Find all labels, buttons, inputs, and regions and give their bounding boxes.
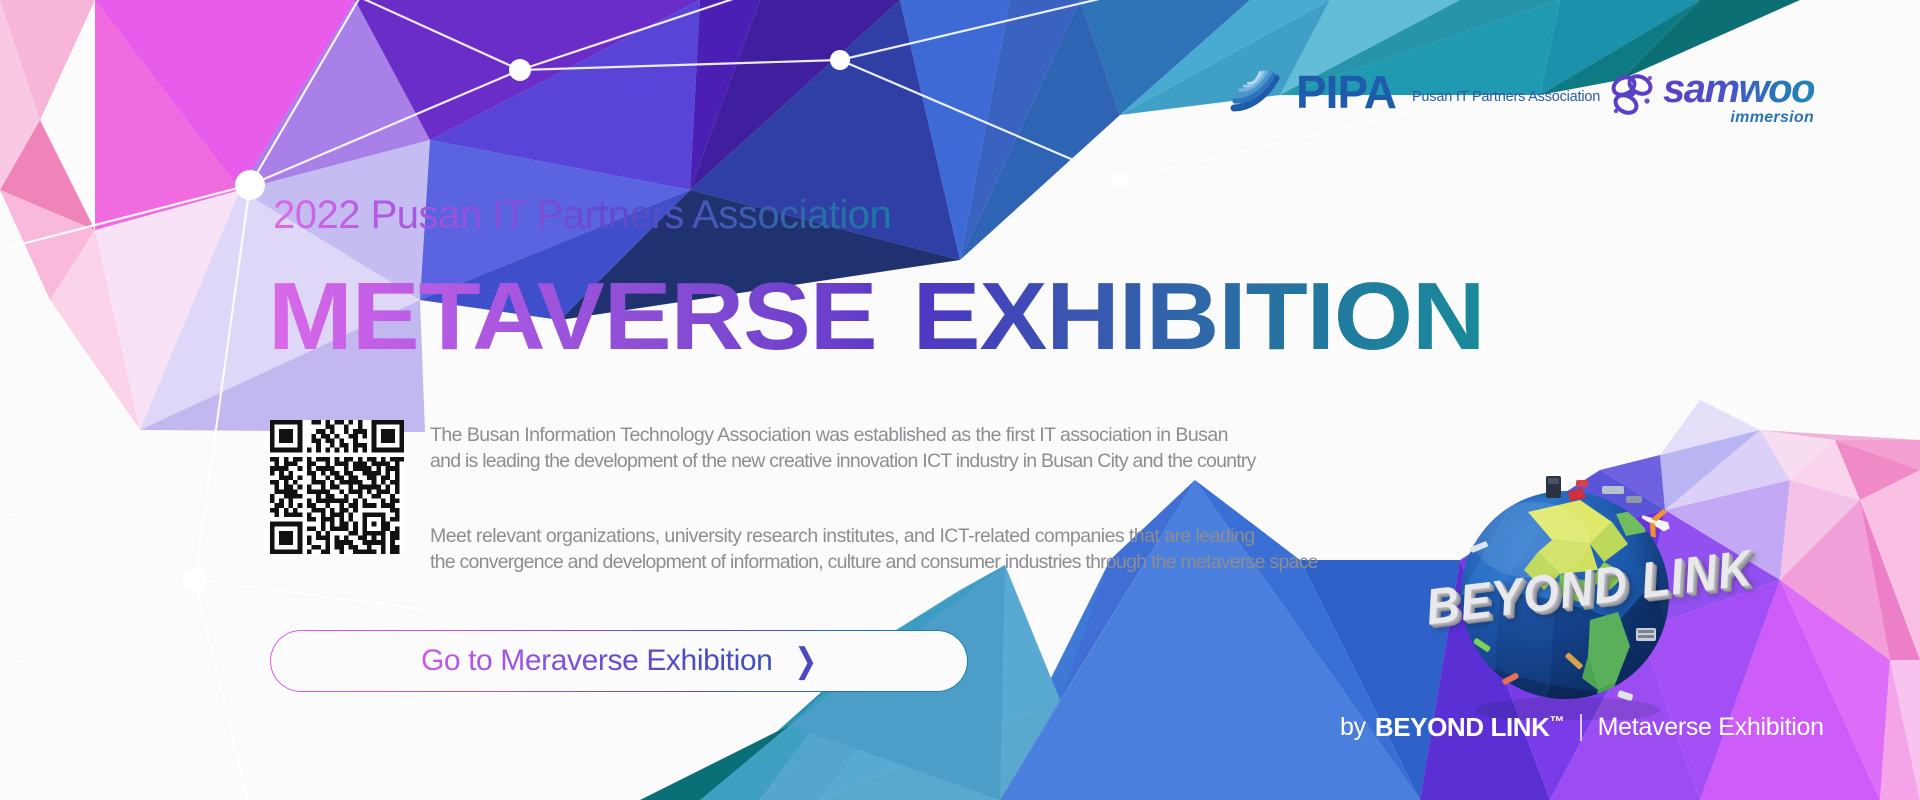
pipa-tagline: Pusan IT Partners Association xyxy=(1412,89,1600,105)
chevron-right-icon: ❯ xyxy=(794,644,817,678)
pipa-wordmark: PIPA xyxy=(1296,69,1396,115)
header-logo-row: PIPA Pusan IT Partners Association samwo… xyxy=(0,0,1920,160)
hero-eyebrow: 2022 Pusan IT Partners Association xyxy=(273,193,891,238)
credit-brand-name: BEYOND LINK xyxy=(1375,712,1550,742)
description-paragraph-2: Meet relevant organizations, university … xyxy=(430,523,1460,575)
hero-title-part1: METAVERSE xyxy=(268,263,877,370)
samwoo-atom-clover-icon xyxy=(1610,72,1654,118)
credit-by-label: by xyxy=(1340,713,1366,742)
credit-divider xyxy=(1580,714,1582,741)
cta-label: Go to Meraverse Exhibition xyxy=(421,644,772,678)
description-block: The Busan Information Technology Associa… xyxy=(430,422,1460,575)
metaverse-exhibition-banner: BEYOND LINK PIPA Pusan IT Partners Assoc… xyxy=(0,0,1920,800)
paragraph-1-line-2: and is leading the development of the ne… xyxy=(430,448,1460,474)
go-to-exhibition-button[interactable]: Go to Meraverse Exhibition ❯ xyxy=(270,630,968,692)
paragraph-1-line-1: The Busan Information Technology Associa… xyxy=(430,424,1228,446)
beyond-link-globe xyxy=(1440,470,1690,720)
trademark-icon: ™ xyxy=(1550,713,1565,730)
samwoo-tagline: immersion xyxy=(1730,109,1814,127)
credit-tagline: Metaverse Exhibition xyxy=(1598,713,1824,742)
credit-brand: BEYOND LINK™ xyxy=(1375,712,1564,743)
pipa-wave-fan-icon xyxy=(1230,68,1280,116)
description-paragraph-1: The Busan Information Technology Associa… xyxy=(430,422,1460,474)
hero-title-part2: EXHIBITION xyxy=(913,263,1485,370)
hero-title: METAVERSEEXHIBITION xyxy=(268,263,1484,371)
logo-samwoo[interactable]: samwoo immersion xyxy=(1610,70,1814,127)
paragraph-2-line-1: Meet relevant organizations, university … xyxy=(430,525,1255,547)
qr-code-image xyxy=(270,420,404,554)
qr-code[interactable] xyxy=(270,420,404,554)
paragraph-2-line-2: the convergence and development of infor… xyxy=(430,549,1460,575)
samwoo-wordmark: samwoo xyxy=(1663,70,1814,108)
credit-line: by BEYOND LINK™ Metaverse Exhibition xyxy=(1340,712,1824,743)
logo-pipa[interactable]: PIPA Pusan IT Partners Association xyxy=(1230,68,1600,116)
